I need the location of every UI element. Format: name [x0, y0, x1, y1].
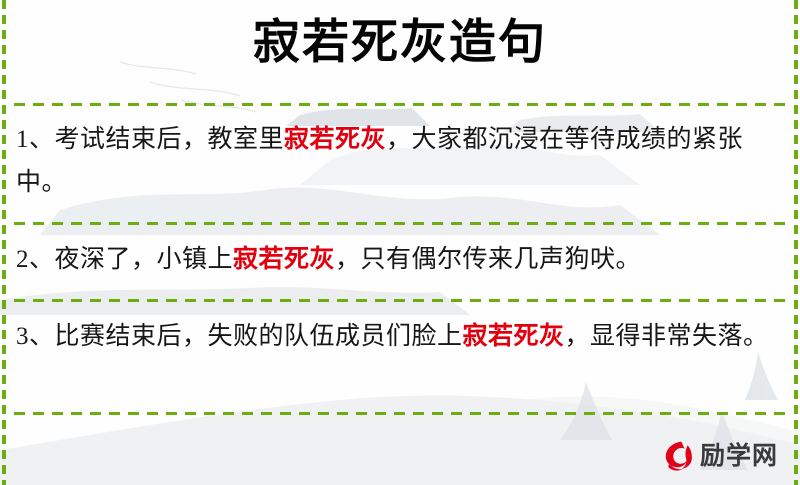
sentence-text-before-3: 比赛结束后，失败的队伍成员们脸上 [55, 323, 463, 350]
example-sentence-2: 2、夜深了，小镇上寂若死灰，只有偶尔传来几声狗吠。 [16, 238, 784, 281]
site-logo[interactable]: 励学网 [660, 439, 778, 473]
sentence-text-after-2: ，只有偶尔传来几声狗吠。 [335, 246, 641, 273]
flame-swirl-icon [660, 439, 694, 473]
dashed-separator-3 [14, 299, 786, 302]
site-logo-text: 励学网 [700, 441, 778, 471]
idiom-keyword-2: 寂若死灰 [233, 246, 335, 273]
sentence-text-before-1: 考试结束后，教室里 [55, 126, 285, 153]
sentence-text-after-3: ，显得非常失落。 [565, 323, 769, 350]
sentence-number-1: 1、 [16, 126, 55, 153]
idiom-example-card: 寂若死灰造句 1、考试结束后，教室里寂若死灰，大家都沉浸在等待成绩的紧张中。 2… [0, 0, 800, 485]
sentence-number-2: 2、 [16, 246, 55, 273]
example-sentence-1: 1、考试结束后，教室里寂若死灰，大家都沉浸在等待成绩的紧张中。 [16, 118, 784, 204]
dashed-separator-4 [14, 412, 786, 415]
sentence-text-before-2: 夜深了，小镇上 [55, 246, 234, 273]
dashed-separator-1 [14, 103, 786, 106]
dashed-separator-2 [14, 222, 786, 225]
idiom-keyword-1: 寂若死灰 [284, 126, 386, 153]
sentence-number-3: 3、 [16, 323, 55, 350]
page-title: 寂若死灰造句 [0, 12, 800, 74]
example-sentence-3: 3、比赛结束后，失败的队伍成员们脸上寂若死灰，显得非常失落。 [16, 315, 784, 358]
idiom-keyword-3: 寂若死灰 [463, 323, 565, 350]
